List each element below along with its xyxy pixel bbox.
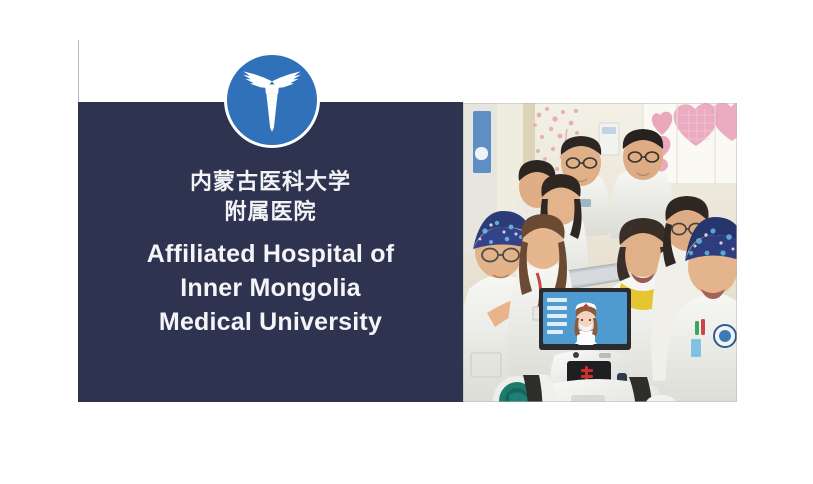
hospital-name-en-line2: Inner Mongolia bbox=[78, 271, 463, 305]
hospital-name-en-line3: Medical University bbox=[78, 305, 463, 339]
hospital-name-cn-line1: 内蒙古医科大学 bbox=[78, 168, 463, 198]
hospital-staff-robot-photo bbox=[463, 103, 737, 402]
hospital-name-cn-line2: 附属医院 bbox=[78, 198, 463, 228]
accent-rule bbox=[78, 40, 79, 103]
hospital-name-en-block: Affiliated Hospital of Inner Mongolia Me… bbox=[78, 237, 463, 339]
slide-canvas: 内蒙古医科大学 附属医院 Affiliated Hospital of Inne… bbox=[0, 0, 813, 484]
hospital-emblem-icon bbox=[224, 52, 320, 148]
hospital-name-en-line1: Affiliated Hospital of bbox=[78, 237, 463, 271]
hospital-name-block: 内蒙古医科大学 附属医院 Affiliated Hospital of Inne… bbox=[78, 168, 463, 339]
